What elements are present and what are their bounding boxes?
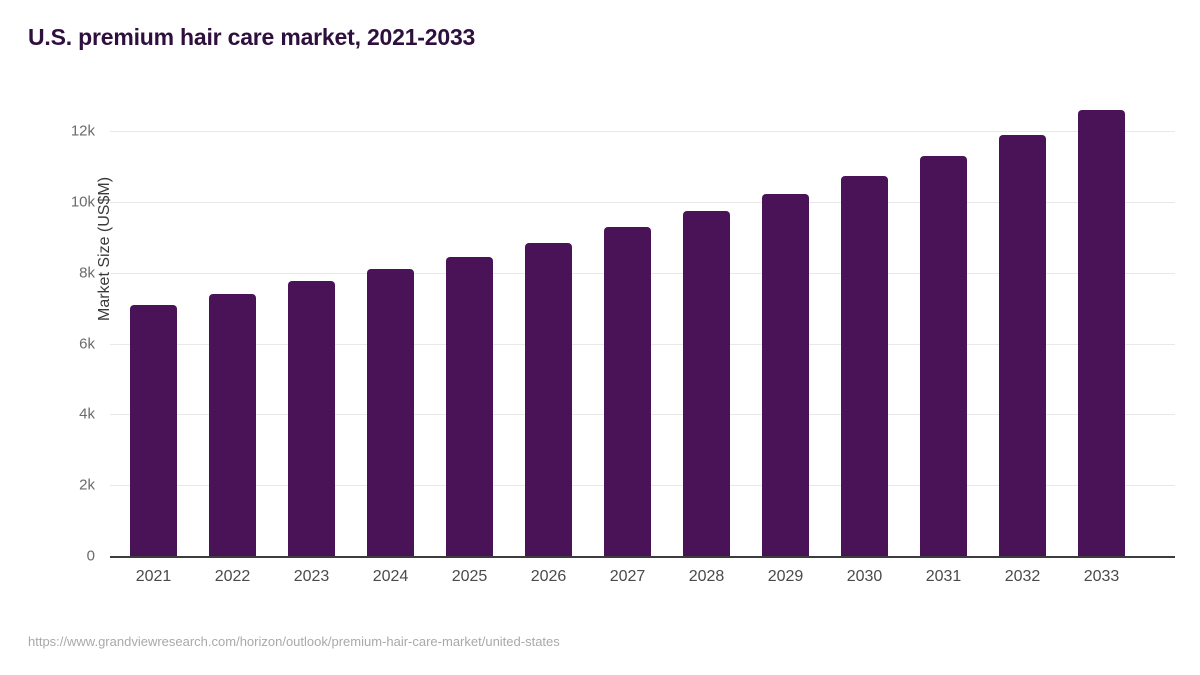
y-tick-label: 12k [25, 123, 95, 140]
x-tick-label: 2029 [768, 568, 804, 586]
bar-group[interactable]: 2026 [525, 131, 572, 556]
y-tick-label: 6k [25, 335, 95, 352]
x-tick-label: 2024 [373, 568, 409, 586]
bar-group[interactable]: 2021 [130, 131, 177, 556]
bar[interactable] [762, 194, 809, 556]
x-tick-label: 2025 [452, 568, 488, 586]
bar-group[interactable]: 2029 [762, 131, 809, 556]
bar[interactable] [1078, 110, 1125, 556]
y-tick-label: 10k [25, 193, 95, 210]
x-axis-line [110, 556, 1175, 558]
y-tick-label: 2k [25, 477, 95, 494]
bar-group[interactable]: 2024 [367, 131, 414, 556]
x-tick-label: 2021 [136, 568, 172, 586]
bar-group[interactable]: 2032 [999, 131, 1046, 556]
bar-group[interactable]: 2027 [604, 131, 651, 556]
x-tick-label: 2026 [531, 568, 567, 586]
bar[interactable] [604, 227, 651, 556]
bar-series: 2021202220232024202520262027202820292030… [110, 131, 1175, 556]
chart-card: U.S. premium hair care market, 2021-2033… [0, 0, 1200, 675]
bar[interactable] [999, 135, 1046, 556]
bar-group[interactable]: 2025 [446, 131, 493, 556]
bar[interactable] [525, 243, 572, 556]
x-tick-label: 2022 [215, 568, 251, 586]
page-title: U.S. premium hair care market, 2021-2033 [28, 24, 475, 51]
bar[interactable] [367, 269, 414, 556]
x-tick-label: 2028 [689, 568, 725, 586]
plot-area: Market Size (US$M) 02k4k6k8k10k12k 20212… [110, 131, 1175, 556]
bar[interactable] [288, 281, 335, 556]
x-tick-label: 2023 [294, 568, 330, 586]
bar-group[interactable]: 2022 [209, 131, 256, 556]
y-tick-label: 8k [25, 264, 95, 281]
source-url: https://www.grandviewresearch.com/horizo… [28, 634, 560, 649]
bar-group[interactable]: 2031 [920, 131, 967, 556]
bar[interactable] [683, 211, 730, 556]
bar-group[interactable]: 2030 [841, 131, 888, 556]
bar[interactable] [920, 156, 967, 556]
x-tick-label: 2032 [1005, 568, 1041, 586]
bar[interactable] [209, 294, 256, 556]
bar-group[interactable]: 2033 [1078, 131, 1125, 556]
x-tick-label: 2031 [926, 568, 962, 586]
bar[interactable] [841, 176, 888, 556]
bar-group[interactable]: 2023 [288, 131, 335, 556]
y-tick-label: 4k [25, 406, 95, 423]
x-tick-label: 2030 [847, 568, 883, 586]
x-tick-label: 2027 [610, 568, 646, 586]
x-tick-label: 2033 [1084, 568, 1120, 586]
bar-group[interactable]: 2028 [683, 131, 730, 556]
bar[interactable] [446, 257, 493, 556]
y-tick-label: 0 [25, 548, 95, 565]
bar[interactable] [130, 305, 177, 556]
